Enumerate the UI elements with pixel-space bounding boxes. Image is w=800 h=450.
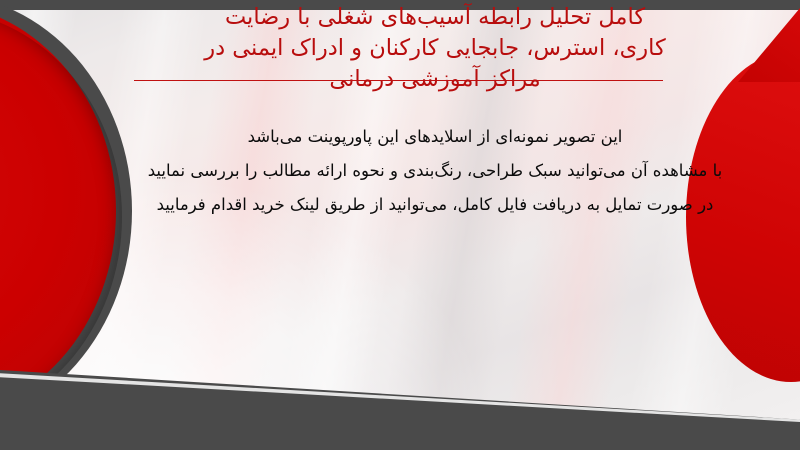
title-line-1: کامل تحلیل رابطه آسیب‌های شغلی با رضایت — [120, 2, 750, 33]
body-line-3: در صورت تمایل به دریافت فایل کامل، می‌تو… — [120, 188, 750, 222]
title-underline-rule — [134, 80, 663, 81]
title-line-2: کاری، استرس، جابجایی کارکنان و ادراک ایم… — [120, 33, 750, 64]
body-line-2: با مشاهده آن می‌توانید سبک طراحی، رنگ‌بن… — [120, 154, 750, 188]
slide-body: این تصویر نمونه‌ای از اسلایدهای این پاور… — [120, 120, 750, 222]
slide-title: کامل تحلیل رابطه آسیب‌های شغلی با رضایت … — [120, 2, 750, 95]
presentation-slide: کامل تحلیل رابطه آسیب‌های شغلی با رضایت … — [0, 0, 800, 450]
body-line-1: این تصویر نمونه‌ای از اسلایدهای این پاور… — [120, 120, 750, 154]
